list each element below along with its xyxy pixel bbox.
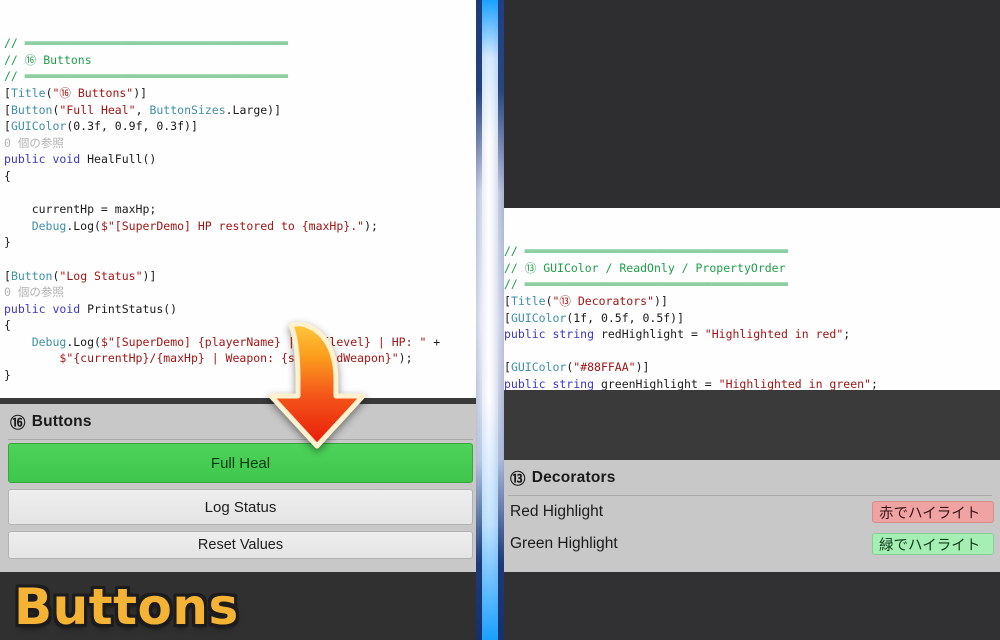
code-line: } [4, 367, 481, 384]
right-gap-band [500, 390, 1000, 460]
code-line: [Button("Full Heal", ButtonSizes.Large)] [4, 102, 481, 119]
code-line: [GUIColor("#88FFAA")] [504, 359, 1000, 376]
code-line: public string greenHighlight = "Highligh… [504, 376, 1000, 390]
code-line: 0 個の参照 [4, 284, 481, 301]
code-line: // ═════════════════════════════════════… [4, 35, 481, 52]
code-line: [GUIColor(0.3f, 0.9f, 0.3f)] [4, 118, 481, 135]
code-line: Debug.Log($"[SuperDemo] {playerName} | L… [4, 334, 481, 351]
inspector-right: ⑬ Decorators Red Highlight 赤でハイライト Green… [500, 460, 1000, 572]
section-badge-icon: ⑯ [10, 411, 26, 433]
code-editor-left[interactable]: // ═════════════════════════════════════… [0, 0, 481, 398]
right-panel: GUIColorショーケース // ══════════════════════… [500, 0, 1000, 640]
code-line: 0 個の参照 [4, 135, 481, 152]
inspector-left-title: Buttons [32, 413, 92, 431]
section-badge-icon: ⑬ [510, 467, 526, 489]
inspector-left-buttons: Full Heal Log Status Reset Values [0, 440, 481, 559]
code-line [4, 185, 481, 202]
code-line: [GUIColor(1f, 0.5f, 0.5f)] [504, 310, 1000, 327]
code-line: $"{currentHp}/{maxHp} | Weapon: {selecte… [4, 350, 481, 367]
code-line: } [4, 234, 481, 251]
code-line: { [4, 168, 481, 185]
red-highlight-field[interactable]: 赤でハイライト [872, 501, 994, 523]
full-heal-button[interactable]: Full Heal [8, 443, 473, 483]
code-line: // ⑯ Buttons [4, 52, 481, 69]
panel-divider-edge-right [498, 0, 504, 640]
down-arrow-icon [262, 322, 372, 450]
code-line [4, 251, 481, 268]
left-panel: // ═════════════════════════════════════… [0, 0, 481, 640]
code-line: public void PrintStatus() [4, 301, 481, 318]
log-status-button[interactable]: Log Status [8, 489, 473, 525]
code-line: Debug.Log($"[SuperDemo] HP restored to {… [4, 218, 481, 235]
code-line: currentHp = maxHp; [4, 201, 481, 218]
code-line [4, 384, 481, 398]
panel-divider-edge-left [476, 0, 482, 640]
green-highlight-label: Green Highlight [510, 535, 618, 553]
code-editor-right[interactable]: // ═════════════════════════════════════… [500, 208, 1000, 390]
inspector-left-header: ⑯ Buttons [0, 404, 481, 439]
inspector-right-header: ⑬ Decorators [500, 460, 1000, 495]
green-highlight-field[interactable]: 緑でハイライト [872, 533, 994, 555]
code-line: public void HealFull() [4, 151, 481, 168]
code-line [504, 343, 1000, 360]
code-line: [Button("Log Status")] [4, 268, 481, 285]
reset-values-button[interactable]: Reset Values [8, 531, 473, 559]
code-line: // ⑬ GUIColor / ReadOnly / PropertyOrder [504, 260, 1000, 277]
right-footer-bar [500, 572, 1000, 640]
code-line: [Title("⑬ Decorators")] [504, 293, 1000, 310]
property-row: Red Highlight 赤でハイライト [500, 496, 1000, 528]
code-line: // ═════════════════════════════════════… [504, 243, 1000, 260]
left-overlay-title: Buttons [14, 578, 239, 636]
screenshot-root: // ═════════════════════════════════════… [0, 0, 1000, 640]
code-line: public string redHighlight = "Highlighte… [504, 326, 1000, 343]
code-line: { [4, 317, 481, 334]
property-row: Green Highlight 緑でハイライト [500, 528, 1000, 560]
inspector-left: ⑯ Buttons Full Heal Log Status Reset Val… [0, 404, 481, 572]
inspector-right-title: Decorators [532, 469, 616, 487]
code-line: // ═════════════════════════════════════… [4, 68, 481, 85]
code-line: [Title("⑯ Buttons")] [4, 85, 481, 102]
red-highlight-label: Red Highlight [510, 503, 603, 521]
code-line: // ═════════════════════════════════════… [504, 276, 1000, 293]
